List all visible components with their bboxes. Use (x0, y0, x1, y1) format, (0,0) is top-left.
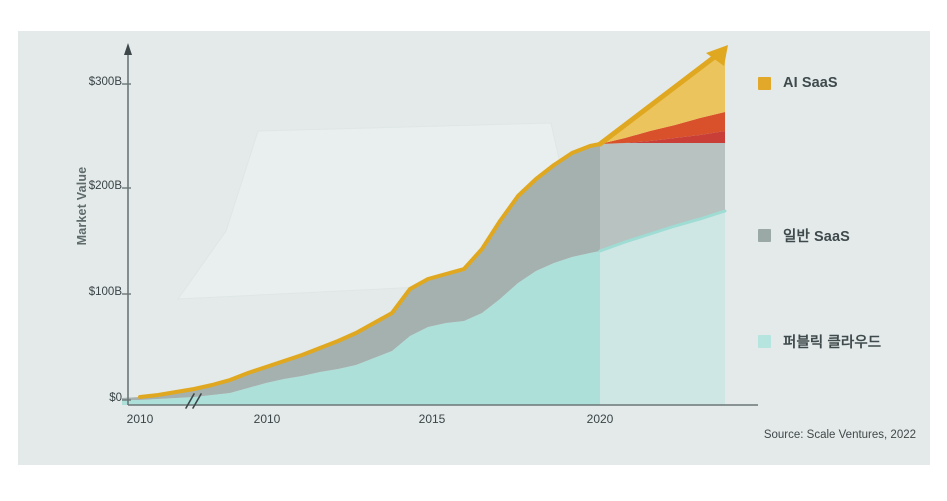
y-tick-label-0: $0 (109, 392, 122, 404)
source-note: Source: Scale Ventures, 2022 (764, 429, 916, 441)
legend-swatch-public-cloud (758, 335, 771, 348)
legend-label-public-cloud: 퍼블릭 클라우드 (783, 331, 881, 352)
y-tick-label-300b: $300B (89, 76, 122, 88)
x-tick-label-2010-start: 2010 (127, 412, 154, 426)
y-axis-title: Market Value (75, 136, 89, 276)
y-tick-label-200b: $200B (89, 180, 122, 192)
legend-item-ai-saas[interactable]: AI SaaS (758, 75, 838, 91)
x-tick-label-2015: 2015 (419, 412, 446, 426)
legend-label-ai-saas: AI SaaS (783, 75, 838, 91)
x-tick-label-2010: 2010 (254, 412, 281, 426)
y-tick-label-100b: $100B (89, 286, 122, 298)
x-tick-label-2020: 2020 (587, 412, 614, 426)
legend-swatch-ai-saas (758, 77, 771, 90)
screenshot-root: Market Value $300B $200B $100B $0 2010 2… (0, 0, 947, 501)
chart-card: Market Value $300B $200B $100B $0 2010 2… (18, 31, 930, 465)
legend-item-public-cloud[interactable]: 퍼블릭 클라우드 (758, 331, 881, 352)
legend-swatch-general-saas (758, 229, 771, 242)
chart-legend: AI SaaS 일반 SaaS 퍼블릭 클라우드 (744, 31, 934, 465)
y-axis-arrow-icon (124, 43, 132, 55)
legend-item-general-saas[interactable]: 일반 SaaS (758, 225, 850, 246)
legend-label-general-saas: 일반 SaaS (783, 225, 850, 246)
